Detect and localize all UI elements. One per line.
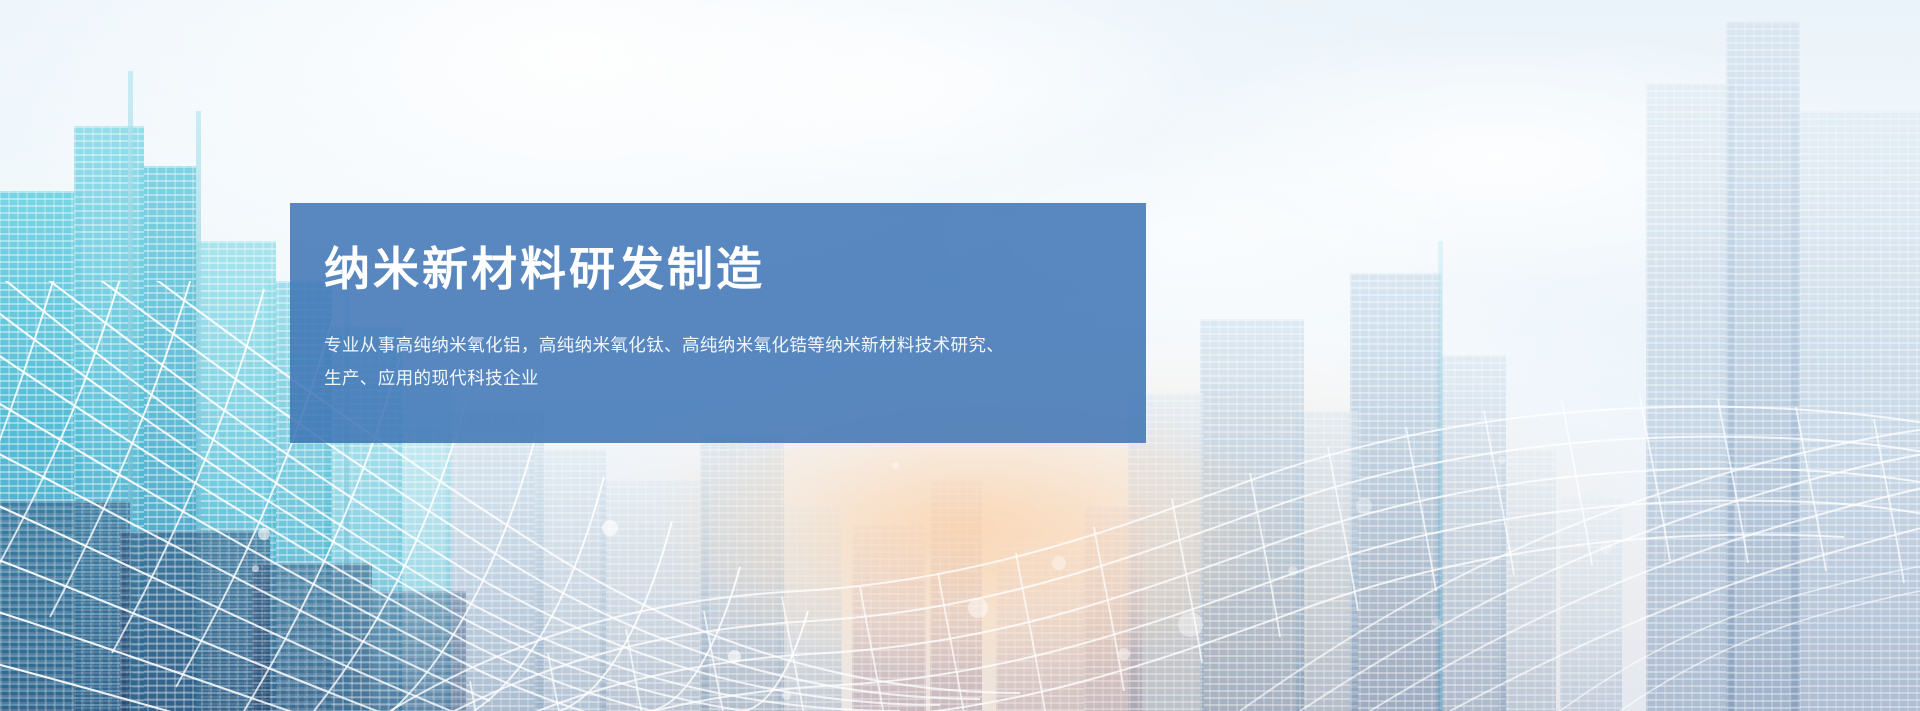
hero-banner: 纳米新材料研发制造 专业从事高纯纳米氧化铝，高纯纳米氧化钛、高纯纳米氧化锆等纳米… [0, 0, 1920, 711]
foreground-block-3 [0, 501, 130, 711]
bokeh-dot-9 [1052, 556, 1066, 570]
bokeh-dot-12 [1432, 618, 1441, 627]
bokeh-dot-2 [252, 565, 259, 572]
building-right-6 [1498, 449, 1556, 711]
bokeh-dot-6 [968, 598, 988, 618]
page-title: 纳米新材料研发制造 [324, 245, 1106, 295]
bokeh-dot-4 [728, 650, 741, 663]
bokeh-dot-1 [258, 528, 270, 540]
bokeh-dot-14 [1498, 456, 1506, 464]
foreground-block-1 [120, 531, 270, 711]
foreground-block-4 [370, 591, 466, 711]
hero-subtitle-line-2: 生产、应用的现代科技企业 [324, 362, 1106, 396]
bokeh-dot-13 [1600, 542, 1612, 554]
building-right-9 [1790, 111, 1920, 711]
hero-subtitle-line-1: 专业从事高纯纳米氧化铝，高纯纳米氧化钛、高纯纳米氧化锆等纳米新材料技术研究、 [324, 329, 1106, 363]
bokeh-dot-3 [602, 520, 618, 536]
bokeh-dot-8 [1178, 612, 1203, 637]
bokeh-dot-11 [1356, 498, 1372, 514]
bokeh-dot-15 [892, 462, 899, 469]
bokeh-dot-7 [1118, 648, 1130, 660]
building-right-10 [1560, 497, 1622, 711]
hero-text-panel: 纳米新材料研发制造 专业从事高纯纳米氧化铝，高纯纳米氧化钛、高纯纳米氧化锆等纳米… [290, 203, 1146, 443]
building-mid-2 [534, 449, 606, 711]
hero-subtitle: 专业从事高纯纳米氧化铝，高纯纳米氧化钛、高纯纳米氧化锆等纳米新材料技术研究、 生… [324, 329, 1106, 396]
bokeh-dot-5 [782, 691, 791, 700]
foreground-block-2 [252, 563, 372, 711]
building-right-8 [1726, 21, 1800, 711]
building-right-5 [1436, 355, 1506, 711]
bokeh-dot-10 [1288, 566, 1298, 576]
building-right-7 [1646, 83, 1734, 711]
